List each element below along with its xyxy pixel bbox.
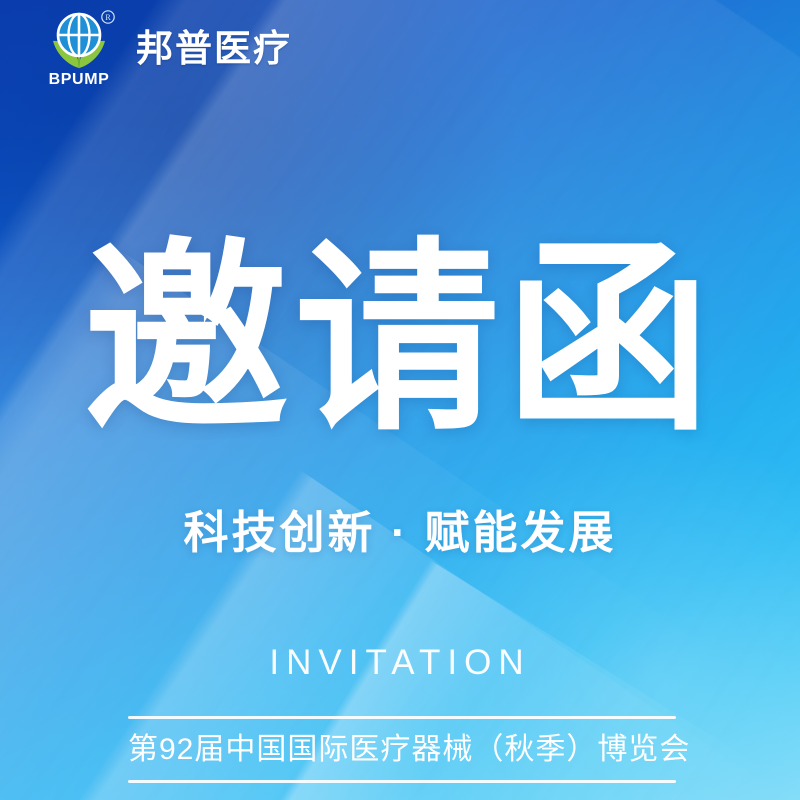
invitation-english-label: INVITATION [0, 645, 800, 680]
event-bar: 第92届中国国际医疗器械（秋季）博览会 [128, 716, 676, 783]
event-name: 第92届中国国际医疗器械（秋季）博览会 [128, 719, 676, 780]
bpump-logo: R BPUMP [40, 8, 118, 86]
bpump-wordmark: BPUMP [40, 72, 118, 88]
poster-title: 邀请函 [0, 238, 800, 443]
company-name: 邦普医疗 [136, 30, 292, 67]
divider-bottom [128, 780, 676, 783]
svg-text:R: R [105, 13, 111, 22]
registered-trademark-icon: R [102, 11, 114, 23]
invitation-poster: R BPUMP 邦普医疗 邀请函 科技创新 · 赋能发展 INVITATION … [0, 0, 800, 800]
poster-tagline: 科技创新 · 赋能发展 [0, 510, 800, 555]
brand-header: R BPUMP 邦普医疗 [40, 8, 292, 86]
